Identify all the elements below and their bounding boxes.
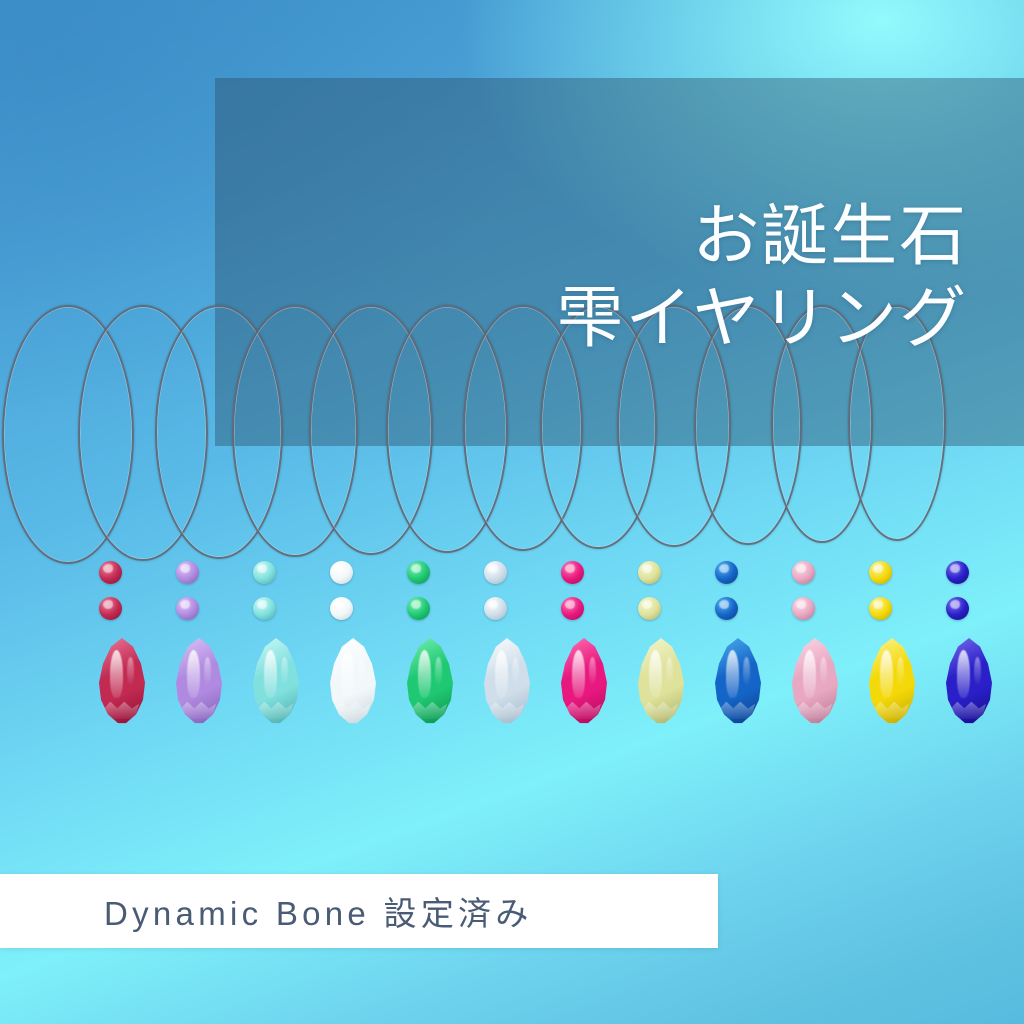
gem-highlight-icon	[103, 600, 114, 609]
poster-canvas: お誕生石 雫イヤリング Dynamic Bone 設定済み	[0, 0, 1024, 1024]
gem-highlight-icon	[873, 564, 884, 573]
drop-gem-secondary-highlight-icon	[666, 657, 673, 686]
gem-highlight-icon	[719, 564, 730, 573]
drop-gem-body	[174, 638, 224, 724]
drop-gem-secondary-highlight-icon	[512, 657, 519, 686]
gem-highlight-icon	[488, 600, 499, 609]
drop-gem-highlight-icon	[495, 650, 508, 698]
drop-gem-secondary-highlight-icon	[204, 657, 211, 686]
stud-gem-ruby-row2	[561, 597, 584, 620]
drop-gem-secondary-highlight-icon	[127, 657, 134, 686]
drop-gem-body	[790, 638, 840, 724]
drop-gem-body	[405, 638, 455, 724]
gem-highlight-icon	[796, 600, 807, 609]
drop-gem-facet-icon	[412, 702, 447, 719]
drop-gem-moonstone	[482, 638, 532, 724]
drop-gem-garnet	[97, 638, 147, 724]
drop-gem-facet-icon	[643, 702, 678, 719]
drop-gem-highlight-icon	[418, 650, 431, 698]
gem-highlight-icon	[950, 564, 961, 573]
stud-gem-sapphire-row1	[715, 561, 738, 584]
drop-gem-facet-icon	[874, 702, 909, 719]
stud-gem-pink-tourmaline-row1	[792, 561, 815, 584]
stud-gem-citrine-row1	[869, 561, 892, 584]
drop-gem-highlight-icon	[187, 650, 200, 698]
drop-gem-highlight-icon	[803, 650, 816, 698]
gem-highlight-icon	[488, 564, 499, 573]
stud-gem-garnet-row2	[99, 597, 122, 620]
drop-gem-diamond	[328, 638, 378, 724]
drop-gem-secondary-highlight-icon	[358, 657, 365, 686]
gem-highlight-icon	[719, 600, 730, 609]
drop-gem-highlight-icon	[264, 650, 277, 698]
gem-highlight-icon	[873, 600, 884, 609]
drop-gem-body	[328, 638, 378, 724]
drop-gem-highlight-icon	[880, 650, 893, 698]
drop-gem-sapphire	[713, 638, 763, 724]
gem-highlight-icon	[950, 600, 961, 609]
gem-highlight-icon	[257, 600, 268, 609]
drop-gem-facet-icon	[335, 702, 370, 719]
stud-gem-row-2	[0, 597, 1024, 621]
gem-highlight-icon	[411, 564, 422, 573]
drop-gem-body	[251, 638, 301, 724]
drop-gem-secondary-highlight-icon	[435, 657, 442, 686]
drop-gem-row	[0, 638, 1024, 724]
stud-gem-diamond-row2	[330, 597, 353, 620]
gem-highlight-icon	[257, 564, 268, 573]
gem-highlight-icon	[411, 600, 422, 609]
stud-gem-garnet-row1	[99, 561, 122, 584]
drop-gem-body	[636, 638, 686, 724]
title-line-2: 雫イヤリング	[328, 278, 968, 360]
drop-gem-highlight-icon	[957, 650, 970, 698]
drop-gem-facet-icon	[951, 702, 986, 719]
stud-gem-ruby-row1	[561, 561, 584, 584]
drop-gem-highlight-icon	[341, 650, 354, 698]
drop-gem-facet-icon	[720, 702, 755, 719]
drop-gem-facet-icon	[104, 702, 139, 719]
drop-gem-body	[482, 638, 532, 724]
stud-gem-amethyst-row1	[176, 561, 199, 584]
drop-gem-highlight-icon	[110, 650, 123, 698]
stud-gem-peridot-row1	[638, 561, 661, 584]
stud-gem-sapphire-row2	[715, 597, 738, 620]
feature-banner-label: Dynamic Bone 設定済み	[104, 887, 533, 935]
drop-gem-amethyst	[174, 638, 224, 724]
feature-banner: Dynamic Bone 設定済み	[0, 874, 718, 948]
drop-gem-highlight-icon	[649, 650, 662, 698]
drop-gem-ruby	[559, 638, 609, 724]
drop-gem-body	[559, 638, 609, 724]
stud-gem-emerald-row2	[407, 597, 430, 620]
drop-gem-aquamarine	[251, 638, 301, 724]
drop-gem-body	[97, 638, 147, 724]
drop-gem-secondary-highlight-icon	[743, 657, 750, 686]
drop-gem-secondary-highlight-icon	[589, 657, 596, 686]
drop-gem-highlight-icon	[572, 650, 585, 698]
stud-gem-pink-tourmaline-row2	[792, 597, 815, 620]
stud-gem-emerald-row1	[407, 561, 430, 584]
gem-highlight-icon	[180, 600, 191, 609]
gem-highlight-icon	[565, 564, 576, 573]
drop-gem-secondary-highlight-icon	[897, 657, 904, 686]
gem-highlight-icon	[180, 564, 191, 573]
drop-gem-secondary-highlight-icon	[974, 657, 981, 686]
gem-highlight-icon	[796, 564, 807, 573]
stud-gem-aquamarine-row1	[253, 561, 276, 584]
drop-gem-highlight-icon	[726, 650, 739, 698]
drop-gem-citrine	[867, 638, 917, 724]
title-line-1: お誕生石	[328, 196, 968, 278]
drop-gem-facet-icon	[181, 702, 216, 719]
stud-gem-amethyst-row2	[176, 597, 199, 620]
drop-gem-facet-icon	[566, 702, 601, 719]
drop-gem-tanzanite	[944, 638, 994, 724]
gem-highlight-icon	[334, 600, 345, 609]
stud-gem-row-1	[0, 561, 1024, 585]
gem-highlight-icon	[642, 564, 653, 573]
drop-gem-body	[867, 638, 917, 724]
drop-gem-pink-tourmaline	[790, 638, 840, 724]
drop-gem-peridot	[636, 638, 686, 724]
drop-gem-body	[944, 638, 994, 724]
drop-gem-facet-icon	[258, 702, 293, 719]
stud-gem-aquamarine-row2	[253, 597, 276, 620]
stud-gem-moonstone-row1	[484, 561, 507, 584]
drop-gem-body	[713, 638, 763, 724]
drop-gem-facet-icon	[797, 702, 832, 719]
gem-highlight-icon	[103, 564, 114, 573]
drop-gem-secondary-highlight-icon	[820, 657, 827, 686]
stud-gem-tanzanite-row2	[946, 597, 969, 620]
stud-gem-moonstone-row2	[484, 597, 507, 620]
stud-gem-tanzanite-row1	[946, 561, 969, 584]
page-title: お誕生石 雫イヤリング	[328, 196, 968, 359]
gem-highlight-icon	[334, 564, 345, 573]
stud-gem-peridot-row2	[638, 597, 661, 620]
drop-gem-secondary-highlight-icon	[281, 657, 288, 686]
drop-gem-emerald	[405, 638, 455, 724]
gem-highlight-icon	[642, 600, 653, 609]
stud-gem-diamond-row1	[330, 561, 353, 584]
stud-gem-citrine-row2	[869, 597, 892, 620]
drop-gem-facet-icon	[489, 702, 524, 719]
gem-highlight-icon	[565, 600, 576, 609]
